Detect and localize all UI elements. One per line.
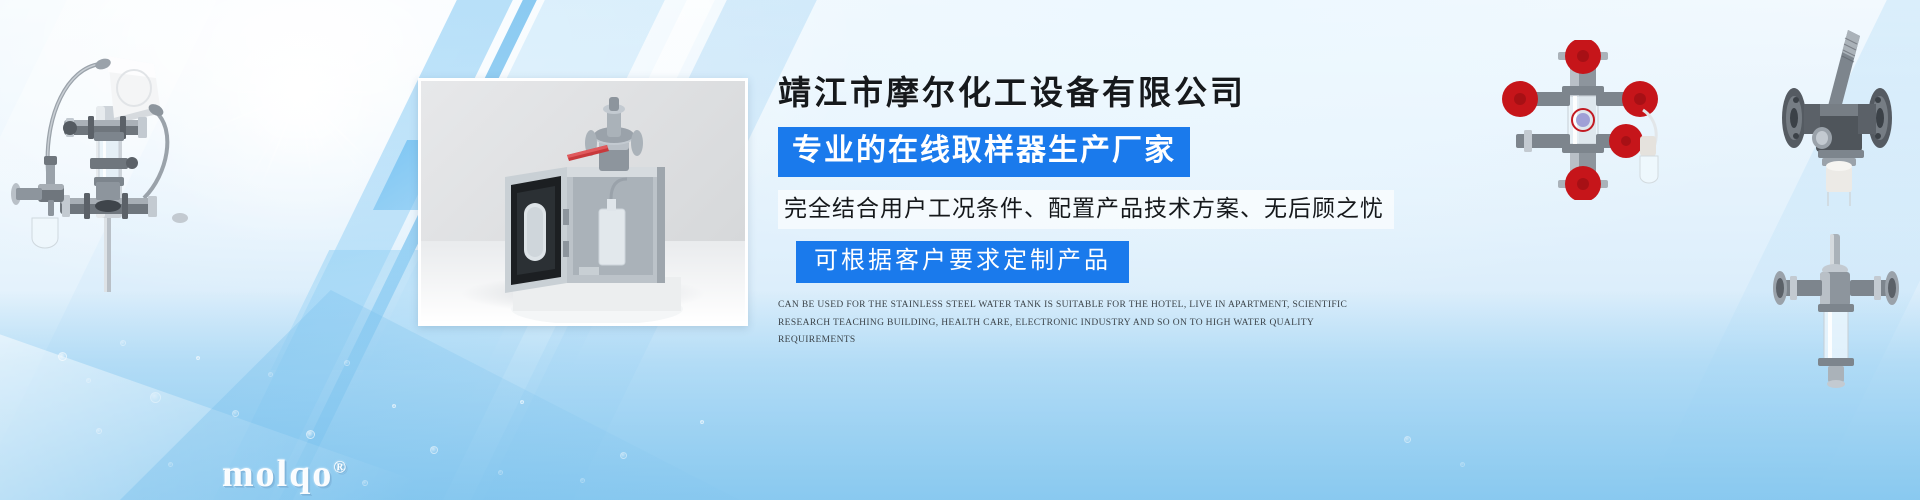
watermark-text: molqo <box>222 453 333 495</box>
product-cross-manifold-sampler <box>1498 40 1678 200</box>
banner-copy: 靖江市摩尔化工设备有限公司 专业的在线取样器生产厂家 完全结合用户工况条件、配置… <box>778 74 1398 350</box>
company-name: 靖江市摩尔化工设备有限公司 <box>778 74 1398 115</box>
product-inline-sight-glass-valve <box>1762 228 1912 398</box>
tagline-badge: 可根据客户要求定制产品 <box>796 241 1129 283</box>
product-pole-mounted-sampler <box>4 22 194 292</box>
fine-print-description: CAN BE USED FOR THE STAINLESS STEEL WATE… <box>778 297 1378 350</box>
promotional-banner: 靖江市摩尔化工设备有限公司 专业的在线取样器生产厂家 完全结合用户工况条件、配置… <box>0 0 1920 500</box>
product-lever-flange-valve <box>1760 20 1910 220</box>
sub-headline: 完全结合用户工况条件、配置产品技术方案、无后顾之忧 <box>778 190 1394 229</box>
product-cabinet-sampler-photo <box>418 78 748 326</box>
watermark-logo: molqo® <box>222 452 346 496</box>
headline-badge: 专业的在线取样器生产厂家 <box>778 127 1190 177</box>
registered-trademark-icon: ® <box>333 457 346 476</box>
